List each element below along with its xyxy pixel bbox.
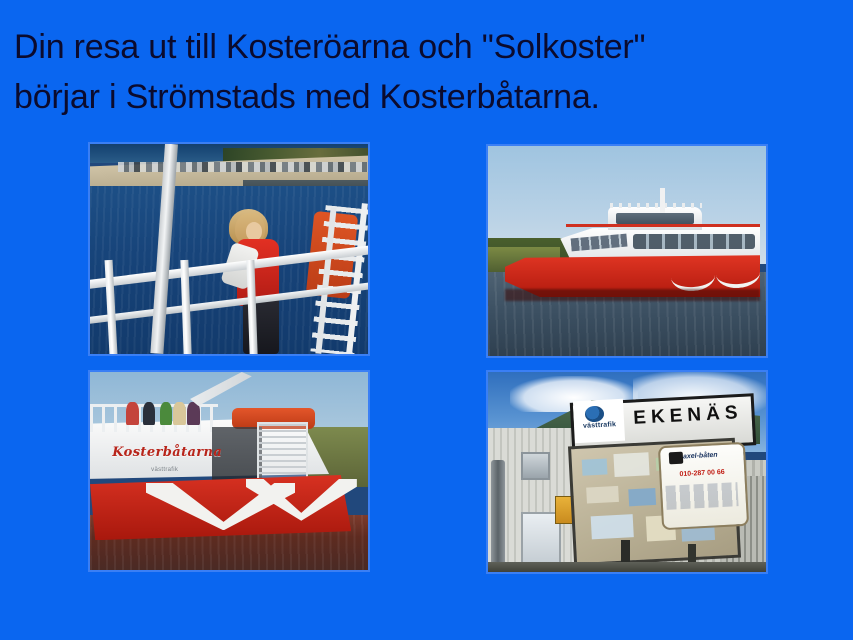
- ferry-bridge-windows: [616, 213, 694, 224]
- ferry-roof-railing: [610, 203, 702, 208]
- notice-item: [586, 486, 619, 504]
- photo-ekenas-terminal: västtrafik EKENÄS axel-båten 010-287 00 …: [486, 370, 768, 574]
- parked-cars: [118, 162, 368, 173]
- passenger: [160, 402, 173, 426]
- photo-girl-at-railing: [88, 142, 370, 356]
- passenger: [143, 402, 156, 426]
- notice-item: [629, 488, 657, 507]
- photo-2-scene: [488, 146, 766, 356]
- building-window-upper: [521, 452, 550, 480]
- title-line-1: Din resa ut till Kosteröarna och "Solkos…: [14, 22, 834, 72]
- notice-item: [614, 452, 651, 477]
- ground-strip: [488, 562, 766, 572]
- notice-item: [591, 515, 634, 540]
- photo-3-scene: Kosterbåtarna västtrafik: [90, 372, 368, 570]
- hull-brand-text: Kosterbåtarna: [112, 445, 222, 460]
- notice-item: [582, 459, 609, 476]
- person-face: [246, 222, 263, 241]
- hull-operator-text: västtrafik: [151, 467, 178, 473]
- title-line-2: börjar i Strömstads med Kosterbåtarna.: [14, 72, 834, 122]
- photo-kosterbatarna-stern: Kosterbåtarna västtrafik: [88, 370, 370, 572]
- page-title: Din resa ut till Kosteröarna och "Solkos…: [14, 22, 834, 122]
- poster-text-columns: [665, 482, 738, 510]
- hull-waterline-shadow: [505, 289, 761, 302]
- ferry-red-stripe: [566, 224, 761, 227]
- presentation-slide: Din resa ut till Kosteröarna och "Solkos…: [0, 0, 853, 640]
- passenger: [173, 402, 186, 426]
- photo-1-scene: [90, 144, 368, 354]
- poster-logo-icon: [668, 452, 682, 465]
- ferry-windows-aft: [633, 234, 755, 249]
- passenger: [126, 402, 139, 426]
- drain-pipe: [491, 460, 505, 572]
- photo-4-scene: västtrafik EKENÄS axel-båten 010-287 00 …: [488, 372, 766, 572]
- photo-red-catamaran-ferry: [486, 144, 768, 358]
- ferry-mast: [660, 188, 664, 213]
